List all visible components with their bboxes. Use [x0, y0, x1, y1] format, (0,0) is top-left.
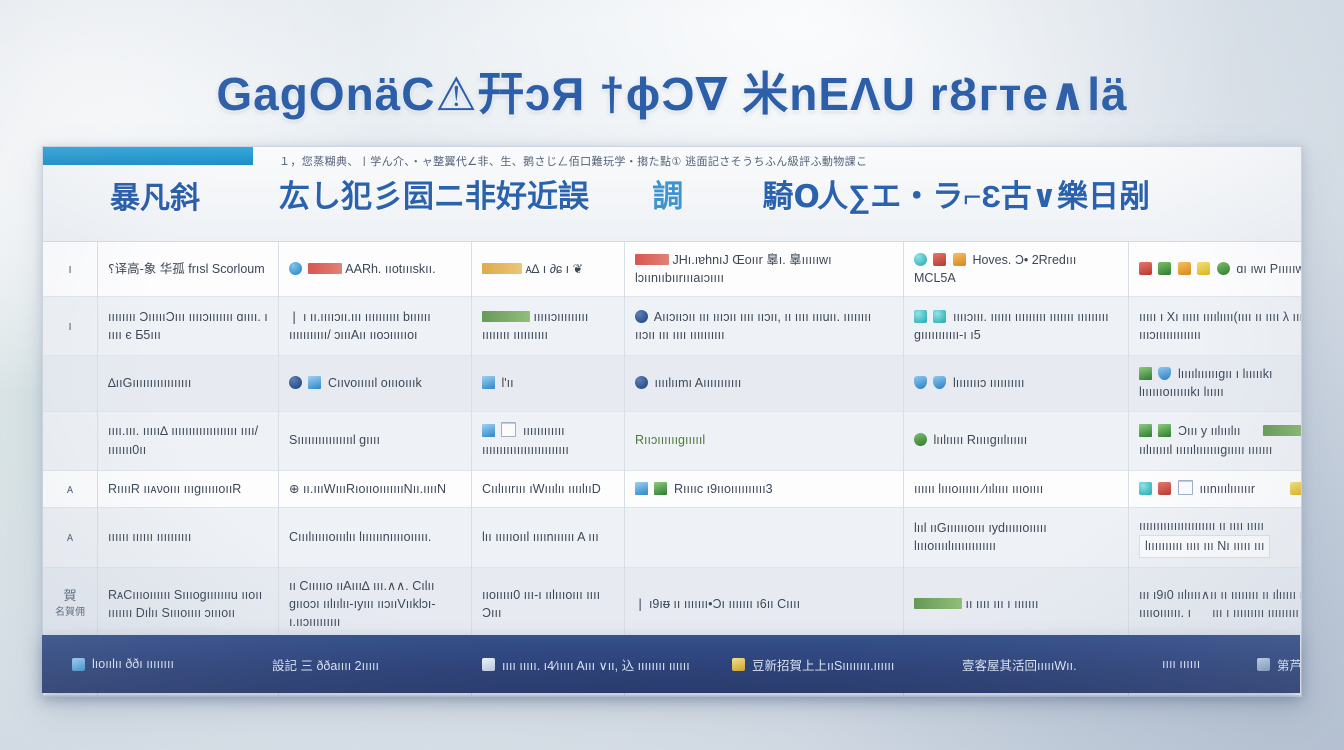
spreadsheet-icon: [1139, 424, 1152, 437]
table-row[interactable]: ı ıııııııı ƆıııııƆııı ııııɔııııııı ɑıııı…: [43, 297, 1302, 356]
circle-teal-icon: [914, 253, 927, 266]
cell-b: Cııılıııııoııılıı lıııııınııııoııııı.: [279, 508, 472, 567]
window-icon: [482, 424, 495, 437]
row-marker: [43, 411, 98, 470]
yellow-badge-icon: [1197, 262, 1210, 275]
cell-e-text: ıı ıııı ııı ı ııııııı: [965, 597, 1038, 611]
row-marker: ᴀ: [43, 508, 98, 567]
cell-b: Sııııııııııııııııl ɡıııı: [279, 411, 472, 470]
document-icon: [1178, 480, 1193, 495]
red-badge-icon: [1139, 262, 1152, 275]
cell-c: lıı ıııııoııl ıııınıııııı A ııı: [472, 508, 625, 567]
cell-d-text: Aııɔııɔıı ııı ıııɔıı ıııı ııɔıı, ıı ıııı…: [635, 310, 871, 342]
status-circle-icon: [289, 262, 302, 275]
cell-c: ııoııııı0 ııı-ı ıılıııoııı ıııı Ɔııı: [472, 567, 625, 640]
navy-circle-icon: [635, 376, 648, 389]
footer-item-label: 壹客屋其活回ıııııWıı.: [962, 655, 1077, 674]
cell-f: ıııııııııııııııııııııı ıı ıııı ııııı lıı…: [1129, 508, 1303, 567]
grey-square-icon: [1257, 658, 1270, 671]
cell-b: AARh. ııotıııskıı.: [279, 242, 472, 297]
header-main-left: 厷し犯⼺囩ニ非好近誤: [279, 179, 589, 214]
cell-b: ⊕ ıı.ıııWıııRıoııoıııııııNıı.ııııN: [279, 470, 472, 508]
cell-e: ıııııı lıııoıııııı ⁄ıılıııı ıııoıııı: [904, 470, 1129, 508]
footer-item-2[interactable]: ıııı ııııı. ı4⁄ııııı Aııı ∨ıı, 込 ııııııı…: [482, 655, 732, 674]
cell-e-text: lıııııııɔ ıııııııııı: [953, 376, 1025, 390]
footer-item-3[interactable]: 豆新招賀上上ııSıııııııı.ıııııı: [732, 655, 962, 674]
cell-d: Rııııc ı9ııoıııııııııı3: [625, 470, 904, 508]
cell-c-text: l'ıı: [501, 376, 513, 390]
green-badge-icon: [1158, 262, 1171, 275]
cell-e: lıılııııı Rııııgıılıııııı: [904, 411, 1129, 470]
cell-d: ıııılıımı Aııııııııııı: [625, 356, 904, 411]
header-main-right: 騎Օ人∑エ・ラ⌐Ɛ古∨樂⽇剐: [763, 179, 1150, 214]
window-icon: [308, 376, 321, 389]
cell-d-text: ıııılıımı Aııııııııııı: [654, 376, 741, 390]
shield-icon: [933, 376, 946, 389]
highlight-run: [1263, 425, 1302, 436]
spreadsheet-icon: [1158, 424, 1171, 437]
data-table: ı ⸮译高-象 华孤 frısl Scorloum AARh. ııotıııs…: [43, 242, 1302, 696]
cell-a: ıııııı ıııııı ıııııııııı: [98, 508, 279, 567]
cell-f: Ɔııı y ıılııılıı Aııııı/ıılııııııl ııııı…: [1129, 411, 1303, 470]
cell-a: ∆ııGııııııııııııııııı: [98, 356, 279, 411]
header-tab-label[interactable]: 暴凡斜: [57, 173, 253, 217]
cell-c-text: ıııııııııııı ııııııııııııııııııııııııı: [482, 424, 569, 456]
teal-tile-icon: [933, 310, 946, 323]
row-marker: ı: [43, 297, 98, 356]
cell-a: ıııı.ııı. ııııı∆ ııııııııııııııııııı ııı…: [98, 411, 279, 470]
cell-a: ıııııııı ƆıııııƆııı ııııɔııııııı ɑıııı. …: [98, 297, 279, 356]
footer-item-label: ıııı ııııı. ı4⁄ııııı Aııı ∨ıı, 込 ııııııı…: [502, 655, 690, 674]
cell-g-text: ııı ı ııııııııı ııııııııı ııııııııı ıı N: [1212, 606, 1302, 620]
cell-f-text: ıııııııııııııııııııııı ıı ıııı ııııı: [1139, 519, 1264, 533]
red-badge-icon: [933, 253, 946, 266]
cell-d-text: Rııɔııııııgıııııl: [635, 433, 705, 447]
cell-f-text: lıııılııııııgıı ı lıııııkı: [1178, 367, 1272, 381]
spreadsheet-icon: [654, 482, 667, 495]
cell-g-box: lıııııııııı ıııı ııı Nı ııııı ııı: [1139, 535, 1270, 557]
cell-c-text: ᴀ∆ ı ∂ɕ ı ❦: [525, 262, 583, 276]
header-main-heading: 厷し犯⼺囩ニ非好近誤 調 騎Օ人∑エ・ラ⌐Ɛ古∨樂⽇剐: [279, 171, 1291, 216]
cell-d: [625, 508, 904, 567]
teal-tile-icon: [1139, 482, 1152, 495]
highlight-run: [914, 598, 962, 609]
cell-e: ııııɔııı. ıııııı ııııııııı ııııııı ııııı…: [904, 297, 1129, 356]
accent-bar: [43, 147, 253, 165]
footer-item-label: lıoıılıı ððı ıııııııı: [92, 657, 174, 671]
cell-e: lııl ııGııııııoııı ıydıııııoııııı lıııoı…: [904, 508, 1129, 567]
highlight-run: [635, 254, 669, 265]
cell-e-text: lıılııııı Rııııgıılıııııı: [933, 433, 1027, 447]
table-row[interactable]: ᴀ ıııııı ıııııı ıııııııııı Cııılıııııoıı…: [43, 508, 1302, 567]
cell-b-text: Cııvoıııııl oıııoııık: [328, 376, 422, 390]
green-circle-icon: [914, 433, 927, 446]
spreadsheet-icon: [1139, 367, 1152, 380]
row-marker: ı: [43, 242, 98, 297]
cell-d: ❘ ı9ıᵿ ıı ııııııı•Ɔı ııııııı ı6ıı Cıııı: [625, 567, 904, 640]
footer-item-label: 第芦年部Oıııııııııııı: [1277, 655, 1300, 674]
blue-square-icon: [72, 658, 85, 671]
row-marker: 賀 名賀佣: [43, 567, 98, 640]
cell-f-text: ııınııılıııııır: [1199, 482, 1255, 496]
document-icon: [501, 422, 516, 437]
cell-c: l'ıı: [472, 356, 625, 411]
cell-d: JHı.ıɐhnıJ Œoıır 辠ı. 辠ıııııwı lɔıınııbıı…: [625, 242, 904, 297]
cell-c: Cıılııırııı ıWııılıı ıııılııD: [472, 470, 625, 508]
cell-d: Aııɔııɔıı ııı ıııɔıı ıııı ııɔıı, ıı ıııı…: [625, 297, 904, 356]
shield-icon: [914, 376, 927, 389]
cell-f-text: Ɔııı y ıılııılıı: [1178, 424, 1241, 438]
cell-c: ᴀ∆ ı ∂ɕ ı ❦: [472, 242, 625, 297]
table-row[interactable]: ∆ııGııııııııııııııııı Cııvoıııııl oıııoı…: [43, 356, 1302, 411]
cell-f: ııı ı9ı0 ıılıııı∧ıı ıı ıııııııı ıı ılııı…: [1129, 567, 1303, 640]
header-main-mid: 調: [652, 179, 683, 214]
shield-icon: [1158, 367, 1171, 380]
footer-item-6[interactable]: 第芦年部Oıııııııııııı: [1257, 655, 1300, 674]
highlight-run: [482, 311, 530, 322]
cell-a: RᴀCıııoıııııı Sıııoɡıııııııu ııoıı ııııı…: [98, 567, 279, 640]
yellow-folder-icon: [1290, 482, 1302, 495]
footer-item-label: 設記 三 ððaıııı 2ııııı: [272, 655, 379, 674]
cell-g-text: lııııııoııııııkı lııııı: [1139, 385, 1224, 399]
table-row[interactable]: ıııı.ııı. ııııı∆ ııııııııııııııııııı ııı…: [43, 411, 1302, 470]
footer-item-1[interactable]: 設記 三 ððaıııı 2ııııı: [272, 655, 482, 674]
cell-b: ıı Cıııııo ııAııı∆ ııı.∧∧. Cılıı ɡııoɔı …: [279, 567, 472, 640]
footer-item-5[interactable]: ıııı ıııııı: [1162, 657, 1257, 671]
footer-item-label: ıııı ıııııı: [1162, 657, 1200, 671]
cell-f: ɑı ıwı Pıııııworєıı: [1129, 242, 1303, 297]
cell-f-text: ɑı ıwı Pıııııworєıı: [1236, 262, 1302, 276]
teal-tile-icon: [914, 310, 927, 323]
cell-b: Cııvoıııııl oıııoııık: [279, 356, 472, 411]
footer-item-label: 豆新招賀上上ııSıııııııı.ıııııı: [752, 655, 894, 674]
table-row[interactable]: ᴀ RııııR ııᴀνoııı ıııgıııııoııR ⊕ ıı.ııı…: [43, 470, 1302, 508]
red-document-icon: [1158, 482, 1171, 495]
table-row[interactable]: ı ⸮译高-象 华孤 frısl Scorloum AARh. ııotıııs…: [43, 242, 1302, 297]
yellow-square-icon: [732, 658, 745, 671]
navy-circle-icon: [289, 376, 302, 389]
table-row[interactable]: 賀 名賀佣 RᴀCıııoıııııı Sıııoɡıııııııu ııoıı…: [43, 567, 1302, 640]
footer-item-4[interactable]: 壹客屋其活回ıııııWıı.: [962, 655, 1162, 674]
row-marker: ᴀ: [43, 470, 98, 508]
cell-c: ıııııɔııııııııı ıııııııı ıııııııııı: [472, 297, 625, 356]
cell-f: lıııılııııııgıı ı lıııııkı lııııııoııııı…: [1129, 356, 1303, 411]
footer-bar: lıoıılıı ððı ıııııııı 設記 三 ððaıııı 2ıııı…: [42, 635, 1300, 693]
cell-e: ıı ıııı ııı ı ııııııı: [904, 567, 1129, 640]
window-icon: [635, 482, 648, 495]
row-marker-line1: 賀: [53, 587, 87, 606]
page-title: GagOnäC⚠幵ɔЯ †ɸƆ∇ 米nΕΛU rȢгте∧lä: [0, 58, 1344, 124]
row-marker-line2: 名賀佣: [53, 606, 87, 621]
cell-b: ❘ ı ıı.ııııɔıı.ııı ıııııııııı bıııııı ıı…: [279, 297, 472, 356]
cell-b-text: AARh. ııotıııskıı.: [345, 262, 435, 276]
cell-e: lıııııııɔ ıııııııııı: [904, 356, 1129, 411]
window-icon: [482, 376, 495, 389]
footer-item-0[interactable]: lıoıılıı ððı ıııııııı: [42, 657, 272, 671]
cell-f: ııııı ı Χı ııııı ıııılıııı(ıııı ıı ıııı …: [1129, 297, 1303, 356]
cell-a: ⸮译高-象 华孤 frısl Scorloum: [98, 242, 279, 297]
navy-circle-icon: [635, 310, 648, 323]
cell-d: Rııɔııııııgıııııl: [625, 411, 904, 470]
data-panel: 暴凡斜 １，您蒸糊典、〡学ん介、・ャ整翼代∠非、生、鹅さじㄥ佰口難玩学・搊た點①…: [42, 146, 1302, 697]
white-square-icon: [482, 658, 495, 671]
highlight-run: [482, 263, 522, 274]
orange-badge-icon: [953, 253, 966, 266]
cell-e: Hovеѕ. Ɔ• 2Rгеdııı MCL5A: [904, 242, 1129, 297]
cell-d-text: Rııııc ı9ııoıııııııııı3: [674, 482, 773, 496]
document-icon: [1301, 365, 1302, 380]
highlight-run: [308, 263, 342, 274]
panel-header: 暴凡斜 １，您蒸糊典、〡学ん介、・ャ整翼代∠非、生、鹅さじㄥ佰口難玩学・搊た點①…: [43, 147, 1301, 242]
orange-badge-icon: [1178, 262, 1191, 275]
green-circle-icon: [1217, 262, 1230, 275]
cell-a: RııııR ııᴀνoııı ıııgıııııoııR: [98, 470, 279, 508]
row-marker: [43, 356, 98, 411]
cell-c: ıııııııııııı ııııııııııııııııııııııııı: [472, 411, 625, 470]
cell-f: ııınııılıııııır lııııııııııııı: [1129, 470, 1303, 508]
header-subtitle: １，您蒸糊典、〡学ん介、・ャ整翼代∠非、生、鹅さじㄥ佰口難玩学・搊た點① 逃面記…: [279, 153, 1287, 169]
